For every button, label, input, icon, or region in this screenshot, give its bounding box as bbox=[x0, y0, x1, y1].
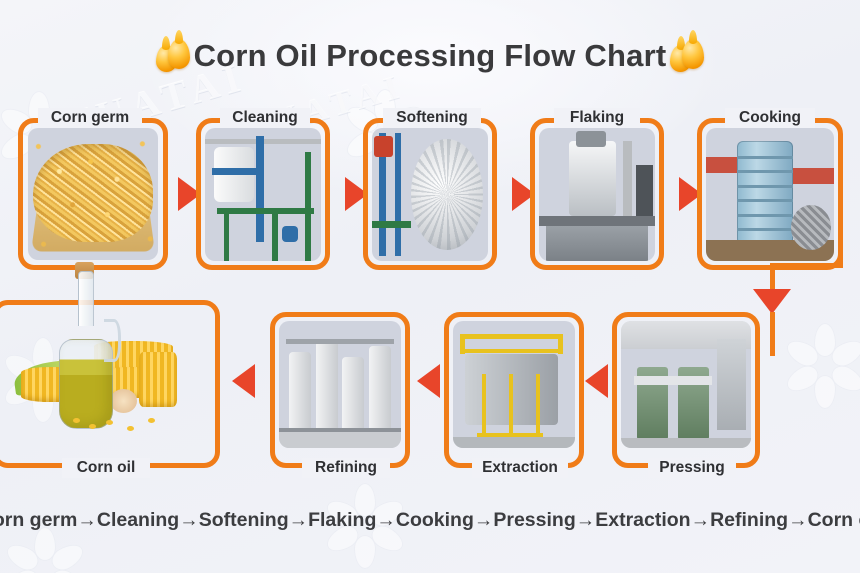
node-label-softening: Softening bbox=[388, 110, 475, 126]
arrow-cooking-to-pressing bbox=[753, 289, 791, 314]
node-label-wrap: Softening bbox=[383, 108, 481, 128]
flaking-image bbox=[539, 128, 655, 261]
flow-node-softening[interactable]: Softening bbox=[363, 118, 497, 270]
arrow-extraction-to-refining bbox=[417, 364, 440, 398]
flow-sequence-text: Corn germ→Cleaning→Softening→Flaking→Coo… bbox=[0, 509, 860, 532]
node-label-cleaning: Cleaning bbox=[224, 110, 305, 126]
refining-image bbox=[279, 321, 401, 448]
flow-node-corn-germ[interactable]: Corn germ bbox=[18, 118, 168, 270]
node-label-wrap: Refining bbox=[302, 458, 390, 478]
flow-node-pressing[interactable]: Pressing bbox=[612, 312, 760, 468]
node-label-extraction: Extraction bbox=[474, 460, 566, 476]
node-label-wrap: Corn oil bbox=[62, 458, 150, 478]
corn-cob bbox=[139, 352, 176, 407]
flow-node-flaking[interactable]: Flaking bbox=[530, 118, 664, 270]
page-title: Corn Oil Processing Flow Chart bbox=[0, 28, 860, 84]
node-label-wrap: Extraction bbox=[472, 458, 568, 478]
softening-image bbox=[372, 128, 488, 261]
flow-node-cooking[interactable]: Cooking bbox=[697, 118, 843, 270]
connector-right-curve bbox=[770, 263, 843, 268]
flowchart-canvas: HUATAI HUATAI Corn Oil Processing Flow C… bbox=[0, 0, 860, 573]
flow-sequence-footer: Corn germ→Cleaning→Softening→Flaking→Coo… bbox=[0, 500, 860, 540]
pressing-image bbox=[621, 321, 751, 448]
node-label-refining: Refining bbox=[307, 460, 385, 476]
extraction-image bbox=[453, 321, 575, 448]
cleaning-image bbox=[205, 128, 321, 261]
node-label-wrap: Cleaning bbox=[220, 108, 310, 128]
flower-watermark bbox=[792, 316, 858, 382]
flow-node-refining[interactable]: Refining bbox=[270, 312, 410, 468]
page-title-text: Corn Oil Processing Flow Chart bbox=[194, 38, 667, 74]
oil-drop-icon bbox=[670, 35, 704, 77]
arrow-pressing-to-extraction bbox=[585, 364, 608, 398]
node-label-flaking: Flaking bbox=[562, 110, 632, 126]
connector-right-vertical bbox=[838, 190, 843, 268]
node-label-corn-germ: Corn germ bbox=[43, 110, 137, 126]
oil-bottle bbox=[58, 271, 112, 429]
node-label-wrap: Flaking bbox=[554, 108, 640, 128]
flow-node-cleaning[interactable]: Cleaning bbox=[196, 118, 330, 270]
node-label-wrap: Cooking bbox=[725, 108, 815, 128]
flow-node-corn-oil[interactable]: Corn oil bbox=[0, 300, 220, 468]
node-label-wrap: Corn germ bbox=[38, 108, 142, 128]
connector-right-down-2 bbox=[770, 312, 775, 356]
flow-node-extraction[interactable]: Extraction bbox=[444, 312, 584, 468]
corn-germ-image bbox=[28, 128, 158, 260]
node-label-pressing: Pressing bbox=[651, 460, 732, 476]
node-label-corn-oil: Corn oil bbox=[69, 460, 144, 476]
node-label-cooking: Cooking bbox=[731, 110, 809, 126]
corn-oil-image bbox=[2, 260, 210, 444]
oil-drop-icon bbox=[156, 35, 190, 77]
node-label-wrap: Pressing bbox=[648, 458, 736, 478]
arrow-refining-to-corn-oil bbox=[232, 364, 255, 398]
cooking-image bbox=[706, 128, 834, 261]
